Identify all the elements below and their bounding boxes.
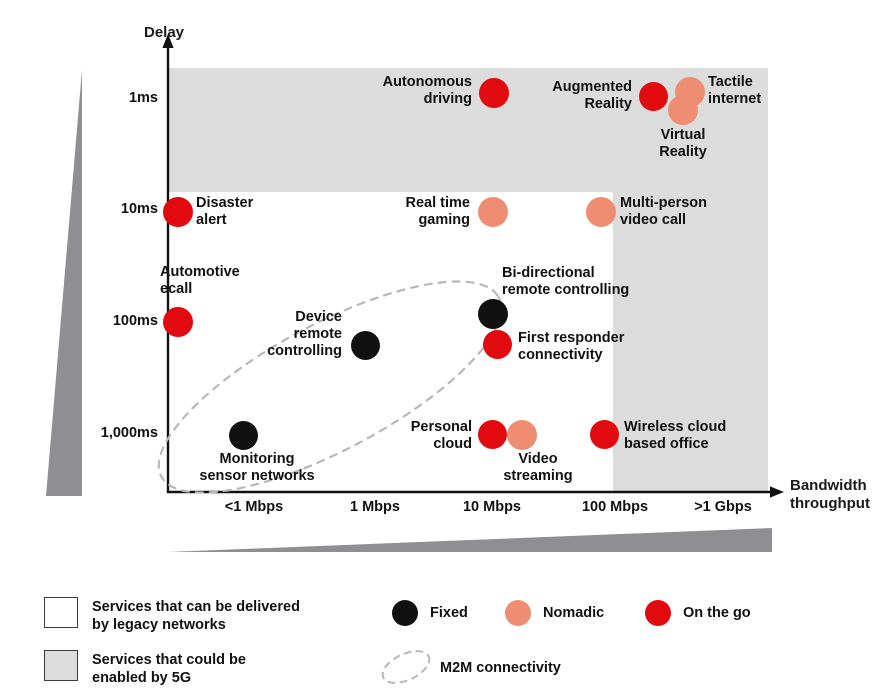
x-tick-gt-1gbps: >1 Gbps xyxy=(668,499,778,515)
point-label-personal-cloud: Personal cloud xyxy=(384,419,472,453)
point-personal-cloud[interactable] xyxy=(478,420,507,449)
chart-canvas: Delay 1ms 10ms 100ms 1,000ms Bandwidth t… xyxy=(0,0,881,698)
point-autonomous-driving[interactable] xyxy=(479,78,509,108)
point-tactile-internet[interactable] xyxy=(675,77,705,107)
legend-label-nomadic: Nomadic xyxy=(543,604,643,622)
legend-swatch-legacy xyxy=(44,597,78,628)
point-label-tactile-internet: Tactile internet xyxy=(708,74,828,108)
point-augmented-reality[interactable] xyxy=(639,82,668,111)
legend-label-on-the-go: On the go xyxy=(683,604,793,622)
x-tick-10mbps: 10 Mbps xyxy=(434,499,550,515)
point-label-autonomous-driving: Autonomous driving xyxy=(340,74,472,108)
point-video-streaming[interactable] xyxy=(507,420,537,450)
point-label-disaster-alert: Disaster alert xyxy=(196,195,320,229)
point-label-real-time-gaming: Real time gaming xyxy=(348,195,470,229)
legend-label-fixed: Fixed xyxy=(430,604,510,622)
point-label-multi-person-video-call: Multi-person video call xyxy=(620,195,770,229)
point-label-wireless-cloud-based-office: Wireless cloud based office xyxy=(624,419,792,453)
x-tick-1mbps: 1 Mbps xyxy=(320,499,430,515)
legend-swatch-5g xyxy=(44,650,78,681)
point-device-remote-controlling[interactable] xyxy=(351,331,380,360)
y-tick-1000ms: 1,000ms xyxy=(48,425,158,441)
point-label-automotive-ecall: Automotive ecall xyxy=(160,264,300,298)
legend-dot-on-the-go xyxy=(645,600,671,626)
point-label-virtual-reality: Virtual Reality xyxy=(629,127,737,161)
point-disaster-alert[interactable] xyxy=(163,197,193,227)
y-axis-title: Delay xyxy=(144,24,184,42)
point-label-augmented-reality: Augmented Reality xyxy=(506,79,632,113)
legend-label-5g: Services that could be enabled by 5G xyxy=(92,651,342,687)
point-bi-directional-remote-controlling[interactable] xyxy=(478,299,508,329)
legend-m2m-ellipse-icon xyxy=(378,650,434,684)
point-label-first-responder-connectivity: First responder connectivity xyxy=(518,330,680,364)
point-label-device-remote-controlling: Device remote controlling xyxy=(230,309,342,359)
y-tick-10ms: 10ms xyxy=(70,201,158,217)
y-tick-100ms: 100ms xyxy=(60,313,158,329)
point-label-bi-directional-remote-controlling: Bi-directional remote controlling xyxy=(502,265,682,299)
point-first-responder-connectivity[interactable] xyxy=(483,330,512,359)
point-real-time-gaming[interactable] xyxy=(478,197,508,227)
legend-dot-nomadic xyxy=(505,600,531,626)
x-tick-100mbps: 100 Mbps xyxy=(556,499,674,515)
point-label-monitoring-sensor-networks: Monitoring sensor networks xyxy=(178,451,336,485)
point-wireless-cloud-based-office[interactable] xyxy=(590,420,619,449)
legend-label-m2m: M2M connectivity xyxy=(440,659,640,677)
x-tick-lt-1mbps: <1 Mbps xyxy=(196,499,312,515)
legend-label-legacy: Services that can be delivered by legacy… xyxy=(92,598,362,634)
x-axis-title: Bandwidth throughput xyxy=(790,477,881,512)
y-tick-1ms: 1ms xyxy=(70,90,158,106)
point-multi-person-video-call[interactable] xyxy=(586,197,616,227)
legend-dot-fixed xyxy=(392,600,418,626)
point-monitoring-sensor-networks[interactable] xyxy=(229,421,258,450)
point-label-video-streaming: Video streaming xyxy=(478,451,598,485)
point-automotive-ecall[interactable] xyxy=(163,307,193,337)
